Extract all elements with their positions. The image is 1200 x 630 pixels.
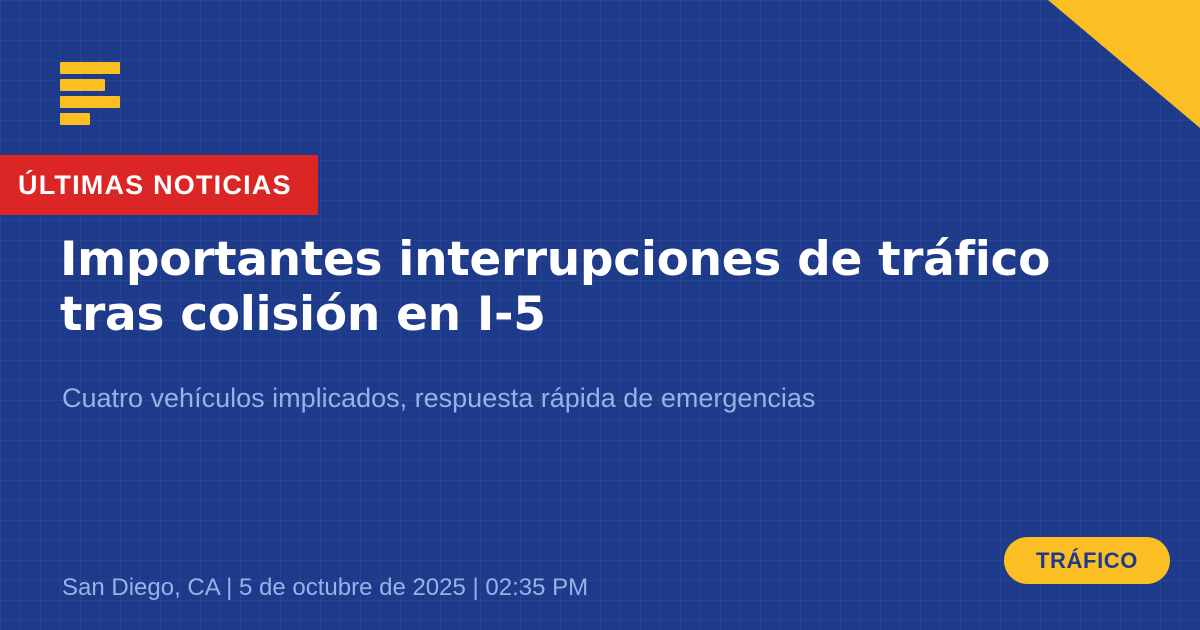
status-badge: TRÁFICO [1004,537,1170,584]
logo-bar-3 [60,96,120,108]
logo-bar-1 [60,62,120,74]
corner-wedge-decoration [1048,0,1200,128]
category-badge-label: TRÁFICO [1036,548,1138,574]
page-title: Importantes interrupciones de tráfico tr… [60,232,1150,343]
breaking-news-banner: ÚLTIMAS NOTICIAS [0,155,318,215]
logo-bar-2 [60,79,105,91]
article-subtitle: Cuatro vehículos implicados, respuesta r… [62,381,1062,416]
news-graphic-card: ÚLTIMAS NOTICIAS Importantes interrupcio… [0,0,1200,630]
logo-bar-4 [60,113,90,125]
breaking-news-label: ÚLTIMAS NOTICIAS [18,170,292,201]
brand-logo [60,62,120,125]
article-meta-line: San Diego, CA | 5 de octubre de 2025 | 0… [62,574,588,602]
